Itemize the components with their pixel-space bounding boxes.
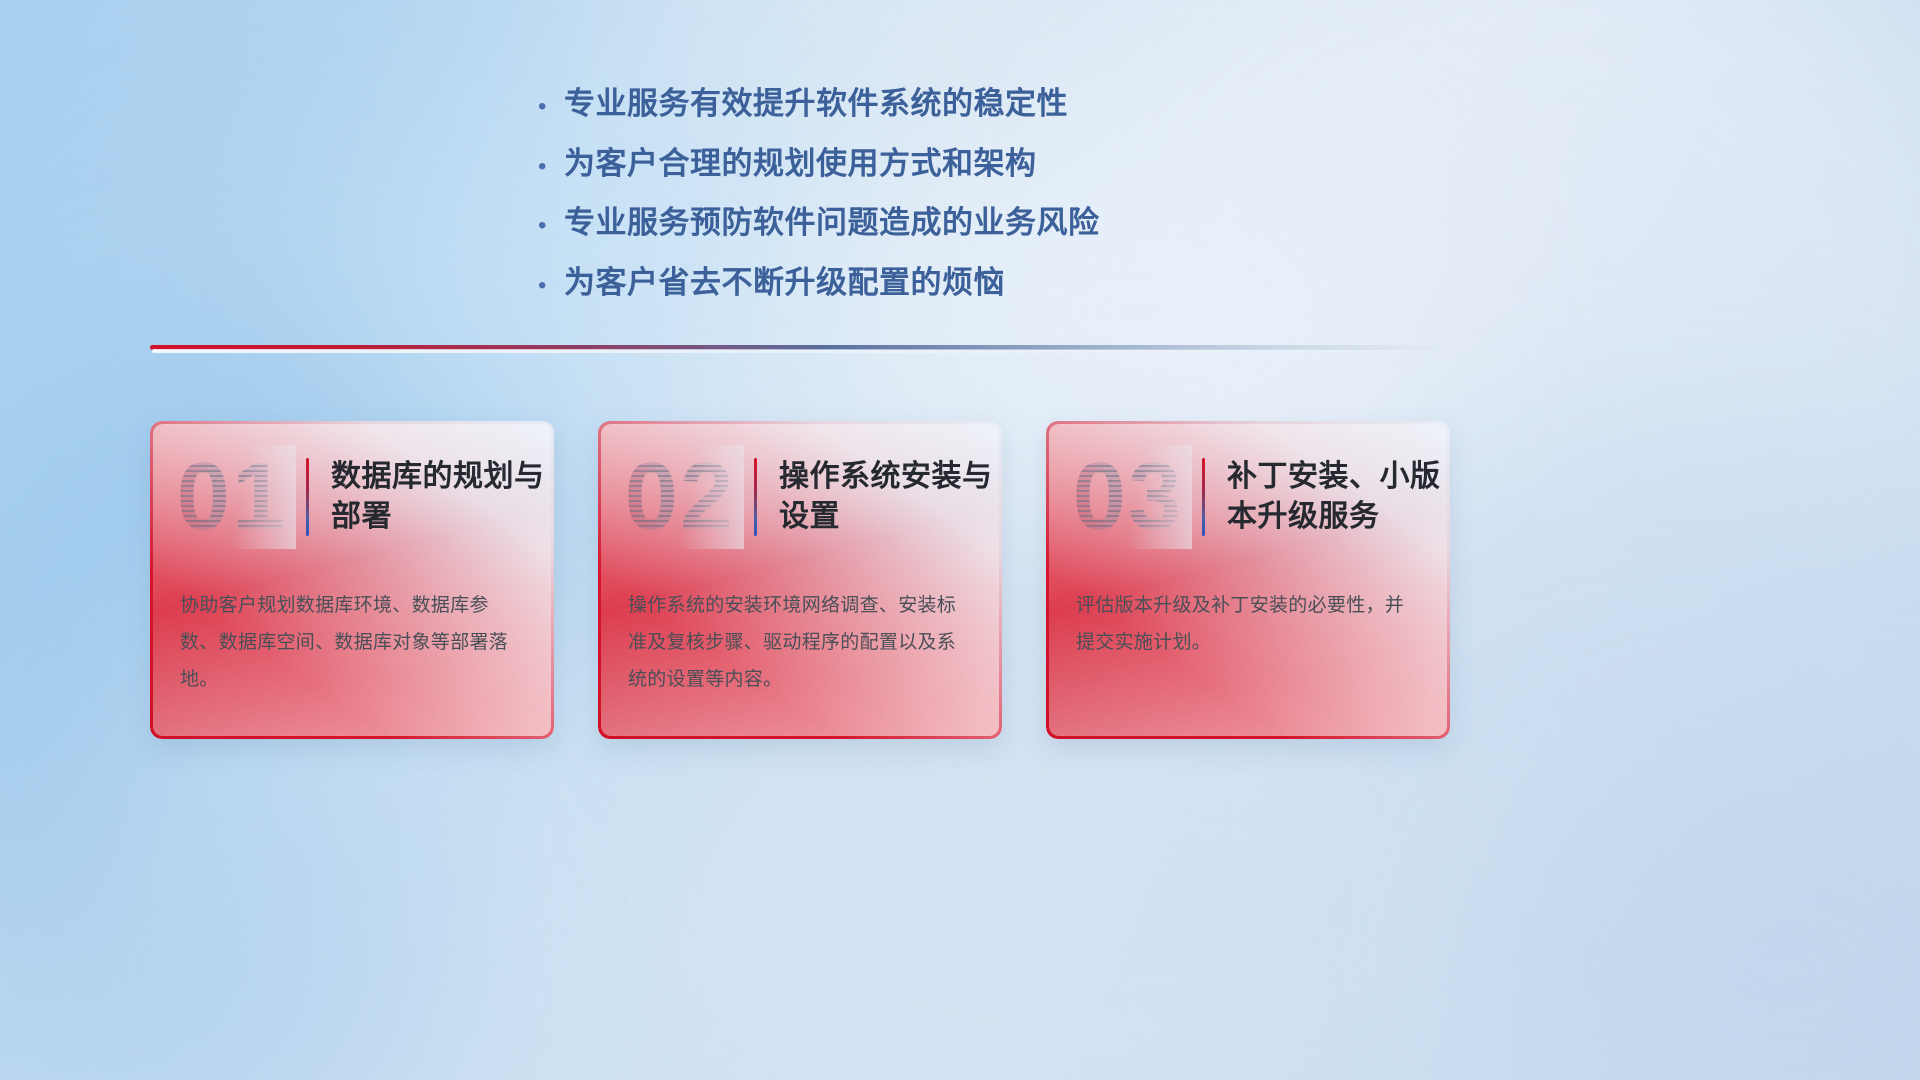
list-item: • 专业服务预防软件问题造成的业务风险 — [530, 205, 1100, 241]
service-card-01[interactable]: 01 数据库的规划与部署 协助客户规划数据库环境、数据库参数、数据库空间、数据库… — [150, 421, 554, 739]
card-divider-bar-icon — [306, 458, 309, 536]
list-item: • 专业服务有效提升软件系统的稳定性 — [530, 86, 1100, 122]
card-header: 02 操作系统安装与设置 — [598, 421, 1002, 573]
bullet-dot-icon: • — [530, 95, 564, 119]
list-item: • 为客户省去不断升级配置的烦恼 — [530, 265, 1100, 301]
section-divider — [150, 345, 1450, 354]
card-title: 操作系统安装与设置 — [779, 457, 997, 536]
card-header: 03 补丁安装、小版本升级服务 — [1046, 421, 1450, 573]
card-header: 01 数据库的规划与部署 — [150, 421, 554, 573]
bullet-text: 专业服务有效提升软件系统的稳定性 — [564, 86, 1068, 122]
card-divider-bar-icon — [1202, 458, 1205, 536]
bullet-dot-icon: • — [530, 155, 564, 179]
card-number: 03 — [1064, 445, 1192, 549]
divider-highlight-line — [152, 349, 1439, 353]
card-number: 01 — [168, 445, 296, 549]
bullet-dot-icon: • — [530, 274, 564, 298]
bullet-text: 专业服务预防软件问题造成的业务风险 — [564, 205, 1100, 241]
bullet-dot-icon: • — [530, 214, 564, 238]
card-body-text: 操作系统的安装环境网络调查、安装标准及复核步骤、驱动程序的配置以及系统的设置等内… — [598, 573, 1002, 698]
card-body-text: 评估版本升级及补丁安装的必要性，并提交实施计划。 — [1046, 573, 1450, 661]
service-card-03[interactable]: 03 补丁安装、小版本升级服务 评估版本升级及补丁安装的必要性，并提交实施计划。 — [1046, 421, 1450, 739]
card-title: 数据库的规划与部署 — [331, 457, 549, 536]
service-card-02[interactable]: 02 操作系统安装与设置 操作系统的安装环境网络调查、安装标准及复核步骤、驱动程… — [598, 421, 1002, 739]
bullet-text: 为客户省去不断升级配置的烦恼 — [564, 265, 1005, 301]
list-item: • 为客户合理的规划使用方式和架构 — [530, 146, 1100, 182]
card-title: 补丁安装、小版本升级服务 — [1227, 457, 1445, 536]
service-card-group: 01 数据库的规划与部署 协助客户规划数据库环境、数据库参数、数据库空间、数据库… — [150, 421, 1450, 739]
card-number: 02 — [616, 445, 744, 549]
bullet-text: 为客户合理的规划使用方式和架构 — [564, 146, 1037, 182]
card-body-text: 协助客户规划数据库环境、数据库参数、数据库空间、数据库对象等部署落地。 — [150, 573, 554, 698]
card-divider-bar-icon — [754, 458, 757, 536]
benefits-bullet-list: • 专业服务有效提升软件系统的稳定性 • 为客户合理的规划使用方式和架构 • 专… — [530, 86, 1100, 301]
